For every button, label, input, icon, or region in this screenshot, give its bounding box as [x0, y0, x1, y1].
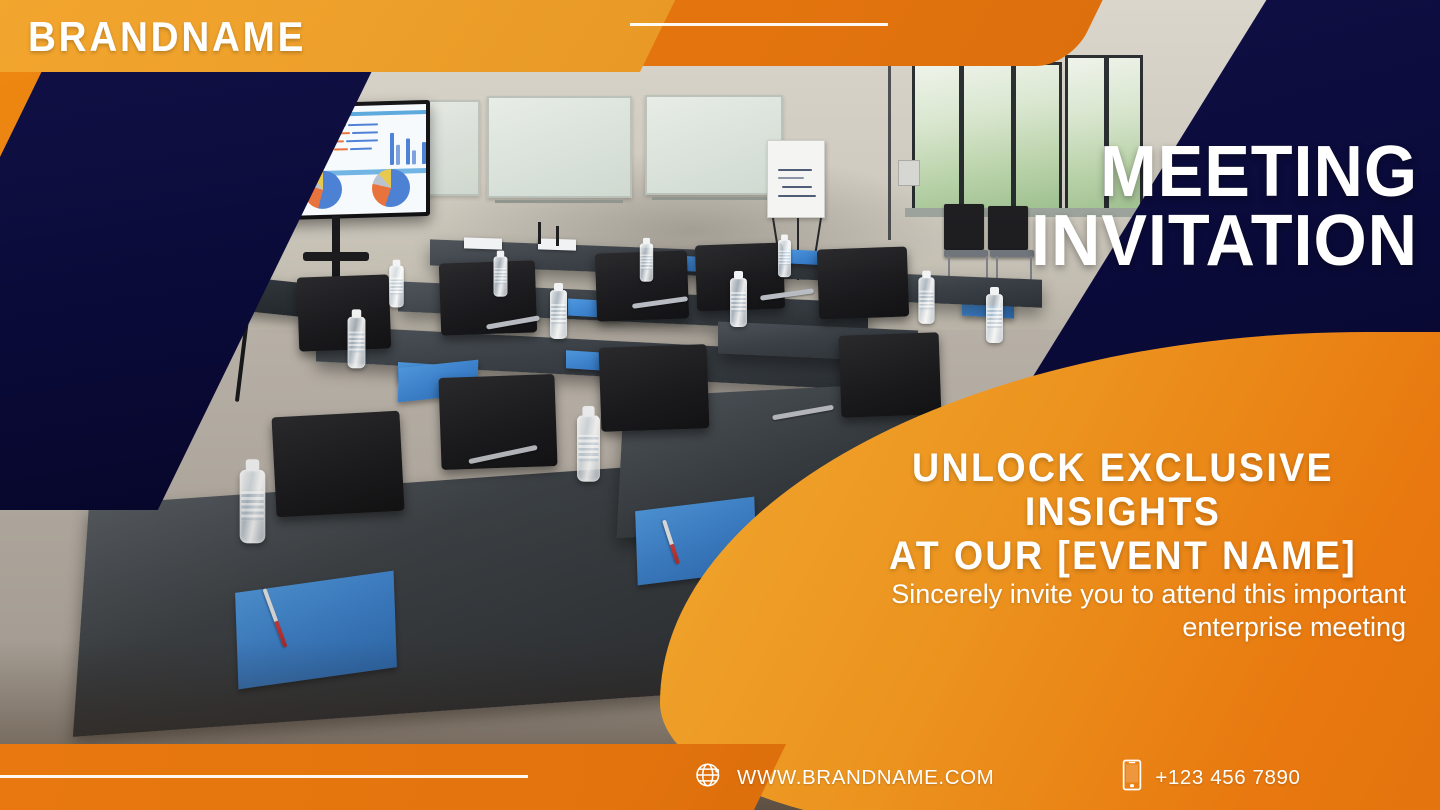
smartphone-icon: [1122, 759, 1142, 796]
subtext-line-2: enterprise meeting: [806, 611, 1406, 644]
globe-icon: [694, 760, 724, 795]
contact-website[interactable]: WWW.BRANDNAME.COM: [694, 760, 994, 795]
header-rule: [630, 23, 888, 26]
title-line-1: MEETING: [886, 138, 1418, 207]
footer-rule: [0, 775, 528, 778]
brand-logo-text: BRANDNAME: [28, 13, 306, 61]
headline-line-1: UNLOCK EXCLUSIVE INSIGHTS: [846, 446, 1401, 534]
phone-label: +123 456 7890: [1155, 766, 1300, 790]
contact-phone[interactable]: +123 456 7890: [1122, 759, 1300, 796]
headline-line-2: AT OUR [EVENT NAME]: [846, 534, 1401, 578]
page-title: MEETING INVITATION: [858, 138, 1418, 276]
headline: UNLOCK EXCLUSIVE INSIGHTS AT OUR [EVENT …: [828, 446, 1418, 578]
contact-row: WWW.BRANDNAME.COM +123 456 7890: [694, 759, 1301, 796]
subtext: Sincerely invite you to attend this impo…: [806, 578, 1406, 644]
title-line-2: INVITATION: [886, 207, 1418, 276]
subtext-line-1: Sincerely invite you to attend this impo…: [806, 578, 1406, 611]
website-label: WWW.BRANDNAME.COM: [737, 766, 994, 790]
invitation-poster: BRANDNAME MEETING INVITATION UNLOCK EXCL…: [0, 0, 1440, 810]
